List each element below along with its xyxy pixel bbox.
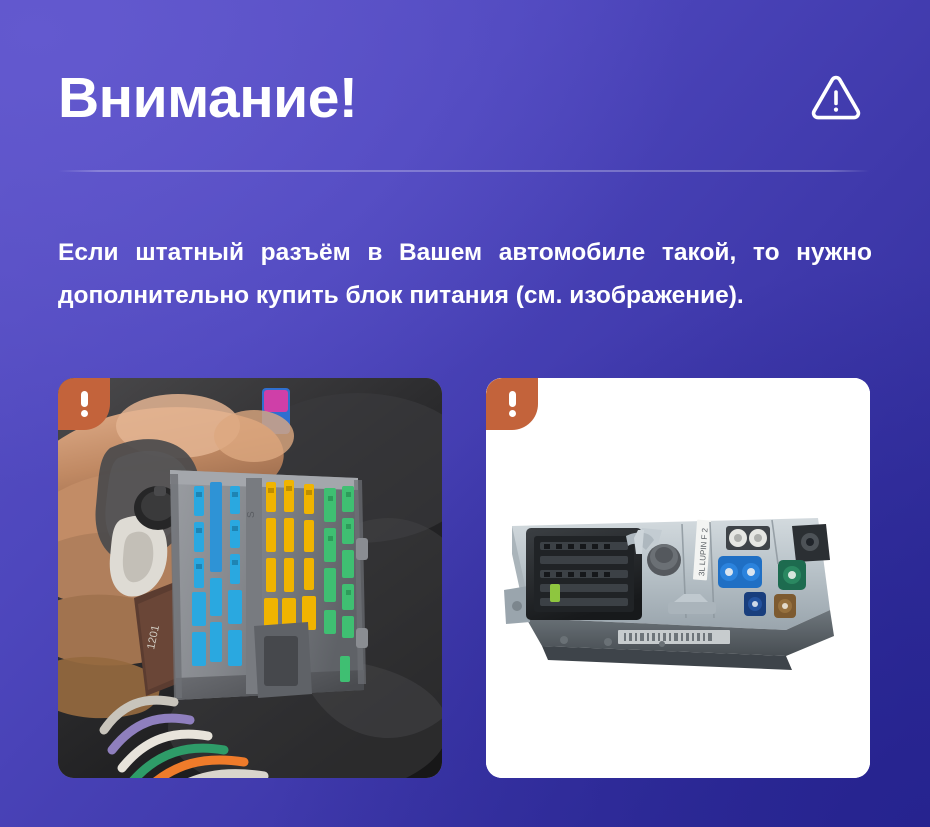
power-supply-unit-image: 3L LUPIN F 2 (486, 378, 870, 778)
header-divider (58, 170, 870, 172)
exclamation-mark-icon (81, 391, 88, 417)
banner-body-text: Если штатный разъём в Вашем автомобиле т… (58, 231, 872, 317)
page-title: Внимание! (58, 70, 357, 127)
power-supply-unit-card[interactable]: 3L LUPIN F 2 (486, 378, 870, 778)
exclamation-mark-icon (509, 391, 516, 417)
oem-connector-card[interactable]: 1201 (58, 378, 442, 778)
warning-badge (58, 378, 110, 430)
body-text-line-1: Если штатный разъём в Вашем автомобиле т… (58, 231, 872, 274)
body-text-line-2: дополнительно купить блок питания (см. и… (58, 274, 872, 317)
oem-connector-image: 1201 (58, 378, 442, 778)
banner-header: Внимание! (58, 48, 870, 148)
svg-text:S: S (246, 511, 257, 518)
warning-triangle-icon (808, 70, 864, 126)
warning-badge (486, 378, 538, 430)
image-card-group: 1201 (58, 378, 870, 778)
warning-banner: Внимание! Если штатный разъём в Вашем ав… (0, 0, 930, 827)
